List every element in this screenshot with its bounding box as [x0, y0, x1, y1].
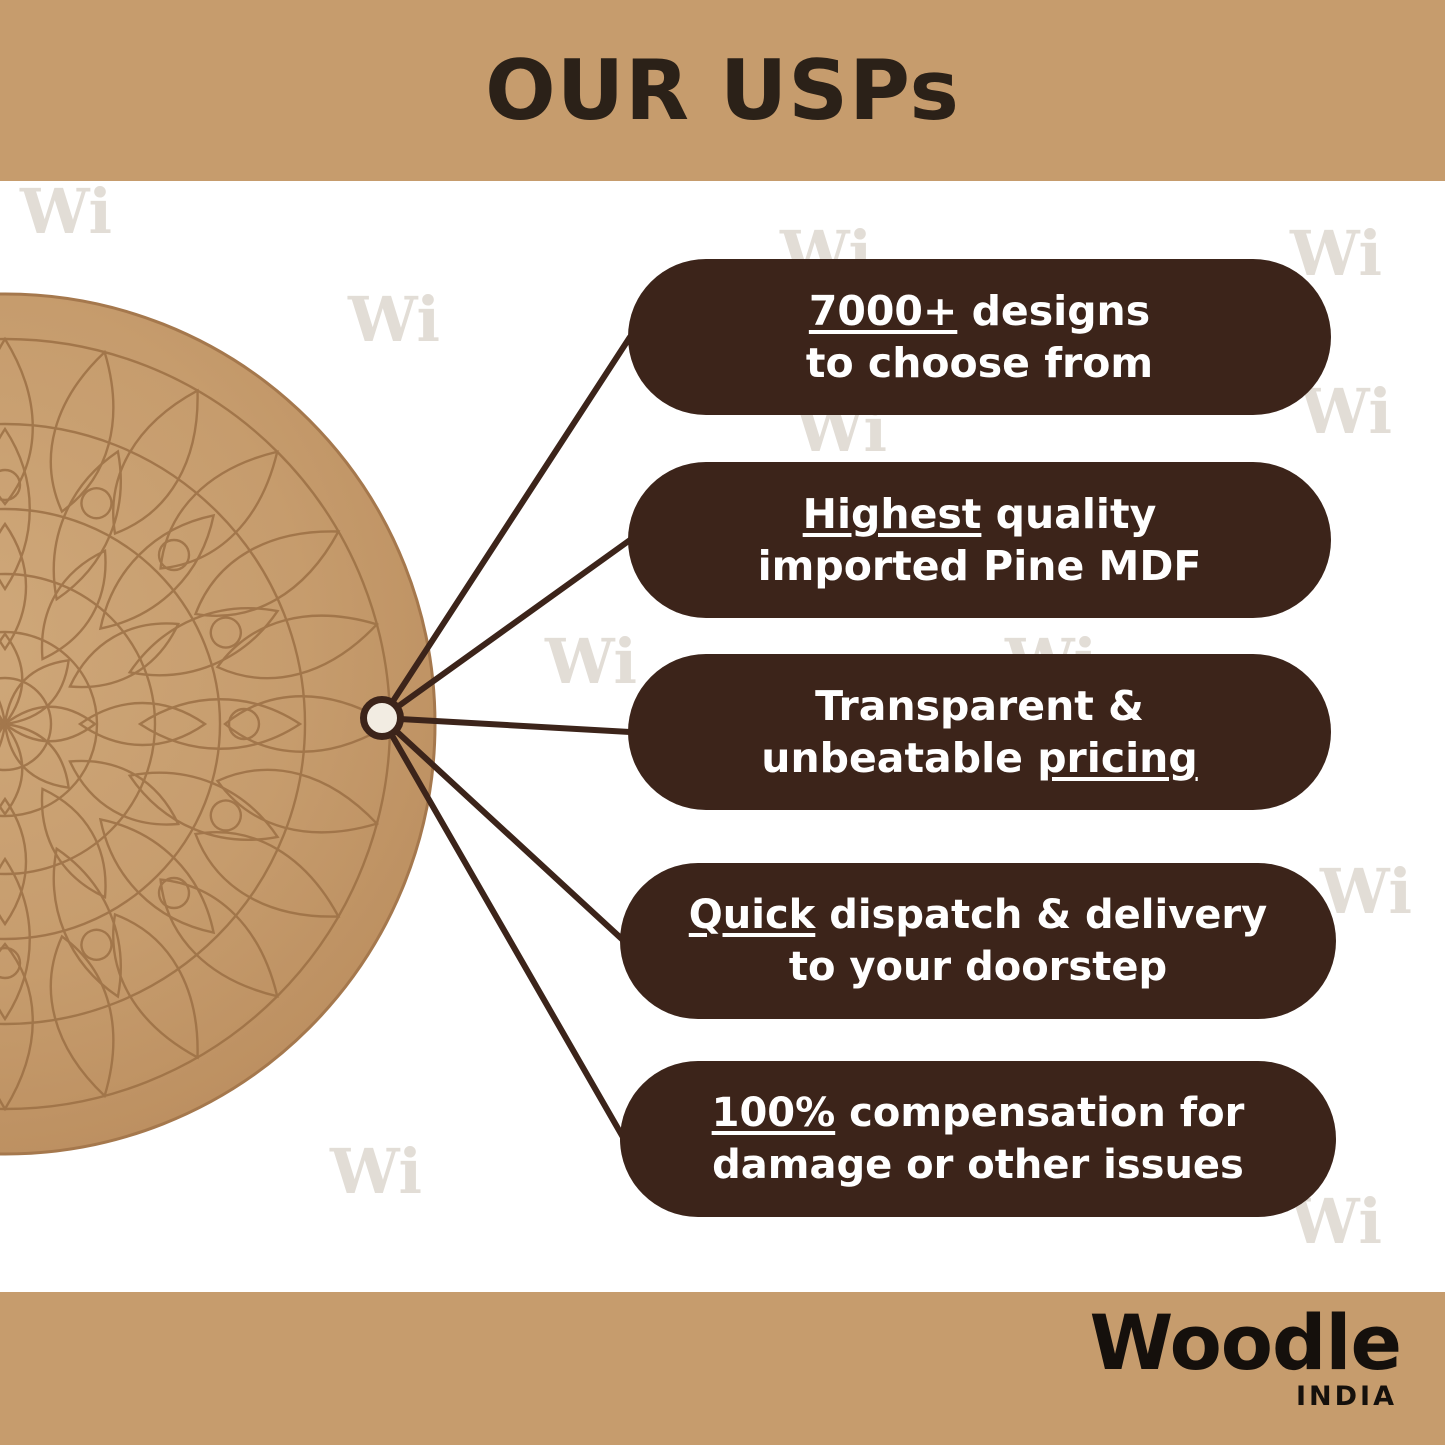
- usp-line: to choose from: [806, 337, 1153, 389]
- usp-line: damage or other issues: [712, 1139, 1244, 1191]
- page-title: OUR USPs: [0, 0, 1445, 181]
- usp-line: imported Pine MDF: [758, 540, 1202, 592]
- infographic-page: OUR USPs Wi Wi Wi Wi Wi Wi Wi Wi Wi Wi W…: [0, 0, 1445, 1445]
- diagram-hub-node: [360, 696, 404, 740]
- brand-logo: Woodle INDIA: [1001, 1300, 1401, 1440]
- usp-line: Highest quality: [803, 488, 1157, 540]
- usp-pill-quality[interactable]: Highest quality imported Pine MDF: [628, 462, 1331, 618]
- usp-pill-dispatch[interactable]: Quick dispatch & delivery to your doorst…: [620, 863, 1336, 1019]
- diagram-canvas: Wi Wi Wi Wi Wi Wi Wi Wi Wi Wi Wi: [0, 181, 1445, 1292]
- usp-line: Transparent &: [815, 680, 1144, 732]
- usp-pill-pricing[interactable]: Transparent & unbeatable pricing: [628, 654, 1331, 810]
- usp-line: 7000+ designs: [809, 285, 1150, 337]
- usp-line: Quick dispatch & delivery: [689, 889, 1267, 941]
- usp-pill-compensation[interactable]: 100% compensation for damage or other is…: [620, 1061, 1336, 1217]
- usp-line: unbeatable pricing: [761, 732, 1197, 784]
- usp-line: to your doorstep: [789, 941, 1167, 993]
- usp-line: 100% compensation for: [712, 1087, 1245, 1139]
- usp-pill-designs[interactable]: 7000+ designs to choose from: [628, 259, 1331, 415]
- brand-name: Woodle: [1001, 1300, 1401, 1386]
